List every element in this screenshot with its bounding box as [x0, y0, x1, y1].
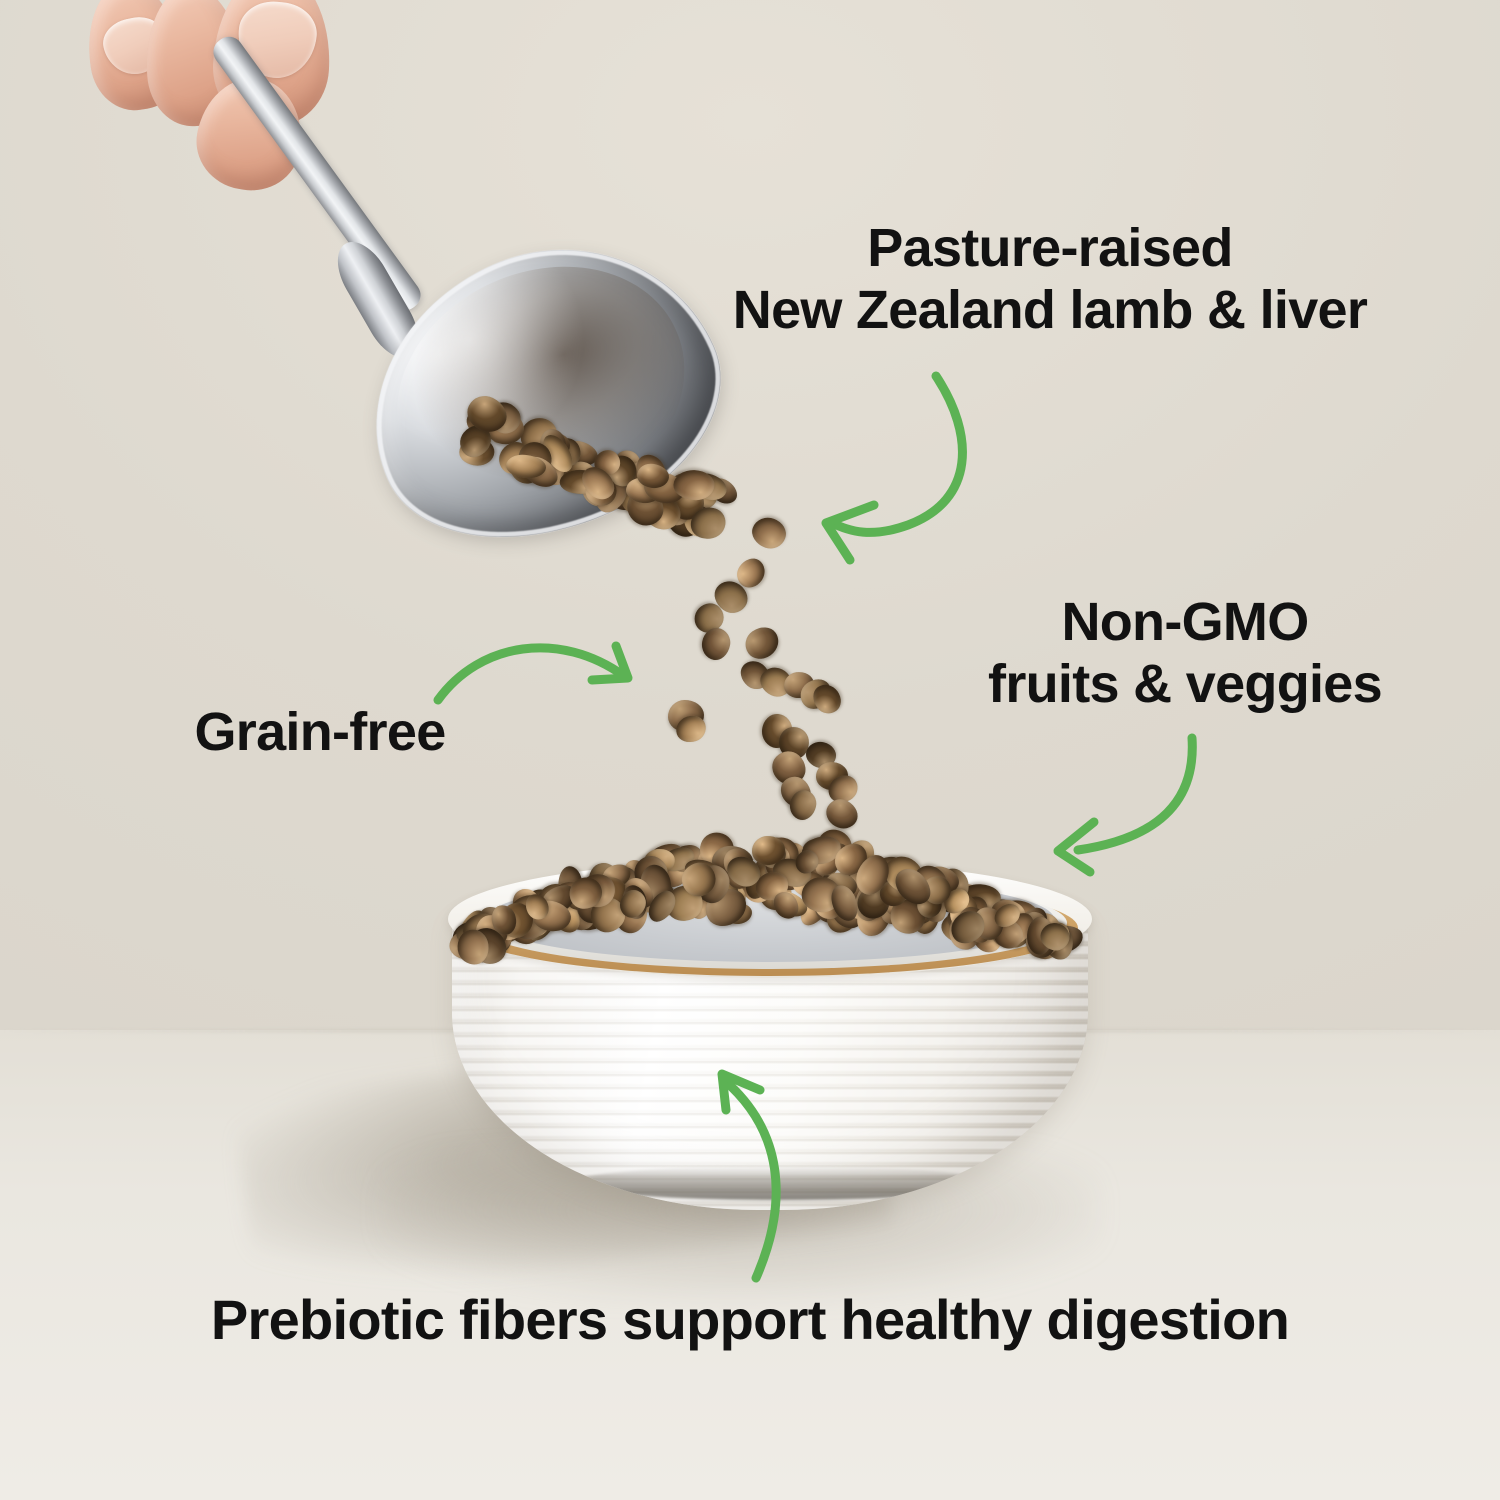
kibble-piece: [777, 725, 811, 761]
kibble-piece: [756, 662, 797, 701]
kibble-in-scoop: [440, 370, 730, 530]
kibble-piece: [795, 673, 837, 715]
kibble-piece: [689, 597, 730, 638]
kibble-piece: [787, 788, 819, 823]
product-feature-image: Pasture-raised New Zealand lamb & liver …: [0, 0, 1500, 1500]
callout-grain-free: Grain-free: [120, 702, 520, 764]
kibble-piece: [673, 712, 710, 746]
callout-pasture-raised: Pasture-raised New Zealand lamb & liver: [640, 218, 1460, 341]
kibble-piece: [808, 679, 847, 719]
kibble-piece: [824, 770, 863, 807]
callout-non-gmo: Non-GMO fruits & veggies: [950, 592, 1420, 715]
kibble-in-bowl: [460, 822, 1080, 950]
kibble-piece: [708, 575, 753, 619]
kibble-piece: [760, 713, 793, 750]
kibble-piece: [735, 655, 775, 694]
dog-bowl: [440, 840, 1100, 1220]
kibble-piece: [739, 621, 784, 665]
bowl-foot: [570, 1166, 994, 1200]
kibble-piece: [775, 771, 817, 814]
kibble-piece: [766, 745, 813, 792]
kibble-piece: [732, 553, 770, 592]
kibble-piece: [748, 513, 790, 553]
arrow-to-scoop-icon: [826, 376, 962, 560]
kibble-piece: [803, 739, 838, 771]
callout-prebiotic-fibers: Prebiotic fibers support healthy digesti…: [100, 1288, 1400, 1352]
kibble-piece: [668, 700, 705, 733]
kibble-piece: [699, 626, 732, 663]
arrow-to-kibble-icon: [438, 646, 628, 700]
kibble-piece: [815, 761, 848, 790]
kibble-piece: [782, 670, 815, 700]
